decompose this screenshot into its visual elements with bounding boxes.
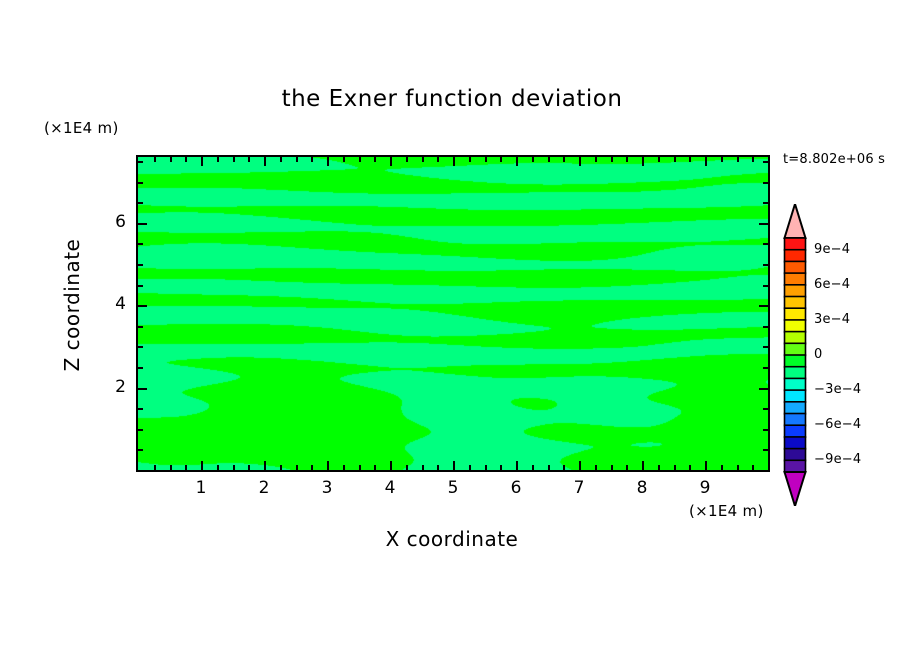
x-tick-mark bbox=[437, 465, 439, 470]
x-tick-mark bbox=[705, 157, 707, 166]
y-tick-mark bbox=[763, 449, 768, 451]
y-tick-mark bbox=[138, 429, 143, 431]
x-tick-mark bbox=[343, 157, 345, 162]
x-tick-mark bbox=[311, 465, 313, 470]
colorbar-band bbox=[785, 449, 806, 461]
x-tick-mark bbox=[563, 157, 565, 162]
x-tick-mark bbox=[548, 157, 550, 162]
colorbar-band bbox=[785, 367, 806, 379]
y-tick-mark bbox=[138, 182, 143, 184]
y-tick-mark bbox=[763, 429, 768, 431]
x-tick-mark bbox=[280, 157, 282, 162]
x-tick-mark bbox=[201, 157, 203, 166]
x-tick-mark bbox=[311, 157, 313, 162]
colorbar-tick-label: −3e−4 bbox=[814, 382, 861, 397]
x-tick-mark bbox=[611, 465, 613, 470]
x-tick-mark bbox=[154, 465, 156, 470]
colorbar-band bbox=[785, 273, 806, 285]
y-tick-mark bbox=[763, 264, 768, 266]
x-tick-label: 4 bbox=[375, 478, 405, 498]
x-tick-mark bbox=[453, 157, 455, 166]
x-tick-mark bbox=[674, 157, 676, 162]
y-tick-mark bbox=[138, 388, 147, 390]
time-annotation: t=8.802e+06 s bbox=[783, 152, 885, 167]
colorbar-band bbox=[785, 250, 806, 262]
x-tick-mark bbox=[595, 157, 597, 162]
y-tick-mark bbox=[763, 408, 768, 410]
y-tick-mark bbox=[763, 326, 768, 328]
x-tick-mark bbox=[185, 157, 187, 162]
x-tick-mark bbox=[516, 461, 518, 470]
x-tick-mark bbox=[579, 461, 581, 470]
x-tick-label: 5 bbox=[438, 478, 468, 498]
x-tick-mark bbox=[280, 465, 282, 470]
y-tick-mark bbox=[138, 326, 143, 328]
x-tick-mark bbox=[327, 461, 329, 470]
colorbar-tick-label: −9e−4 bbox=[814, 452, 861, 467]
colorbar-band bbox=[785, 332, 806, 344]
x-tick-mark bbox=[154, 157, 156, 162]
y-tick-label: 6 bbox=[100, 212, 126, 232]
colorbar-under-arrow bbox=[785, 472, 806, 506]
x-tick-mark bbox=[170, 465, 172, 470]
x-tick-mark bbox=[390, 461, 392, 470]
colorbar-over-arrow bbox=[785, 204, 806, 238]
x-tick-mark bbox=[485, 157, 487, 162]
x-tick-label: 1 bbox=[186, 478, 216, 498]
colorbar-band bbox=[785, 425, 806, 437]
x-tick-label: 6 bbox=[501, 478, 531, 498]
x-tick-mark bbox=[532, 157, 534, 162]
x-tick-mark bbox=[500, 157, 502, 162]
x-tick-mark bbox=[437, 157, 439, 162]
y-tick-mark bbox=[138, 161, 143, 163]
x-tick-mark bbox=[406, 157, 408, 162]
x-tick-mark bbox=[579, 157, 581, 166]
x-tick-mark bbox=[548, 465, 550, 470]
x-tick-mark bbox=[674, 465, 676, 470]
x-tick-mark bbox=[626, 157, 628, 162]
x-tick-mark bbox=[658, 465, 660, 470]
colorbar-band bbox=[785, 320, 806, 332]
y-tick-mark bbox=[138, 346, 143, 348]
y-tick-mark bbox=[763, 182, 768, 184]
colorbar-band bbox=[785, 378, 806, 390]
x-tick-mark bbox=[595, 465, 597, 470]
colorbar-band bbox=[785, 238, 806, 250]
y-tick-mark bbox=[138, 243, 143, 245]
x-tick-mark bbox=[374, 157, 376, 162]
x-tick-mark bbox=[296, 157, 298, 162]
x-tick-mark bbox=[343, 465, 345, 470]
x-tick-mark bbox=[217, 465, 219, 470]
x-tick-mark bbox=[516, 157, 518, 166]
y-tick-mark bbox=[759, 223, 768, 225]
x-tick-mark bbox=[390, 157, 392, 166]
colorbar-band bbox=[785, 402, 806, 414]
colorbar-band bbox=[785, 343, 806, 355]
x-axis-unit-label: (×1E4 m) bbox=[689, 502, 764, 520]
y-tick-mark bbox=[138, 285, 143, 287]
x-tick-mark bbox=[233, 157, 235, 162]
x-tick-mark bbox=[469, 465, 471, 470]
y-axis-unit-label: (×1E4 m) bbox=[44, 119, 119, 137]
colorbar-tick-label: 0 bbox=[814, 347, 822, 362]
x-tick-mark bbox=[626, 465, 628, 470]
x-tick-mark bbox=[201, 461, 203, 470]
x-tick-mark bbox=[422, 465, 424, 470]
y-tick-mark bbox=[138, 202, 143, 204]
x-tick-mark bbox=[296, 465, 298, 470]
y-tick-mark bbox=[138, 264, 143, 266]
x-tick-label: 8 bbox=[627, 478, 657, 498]
x-tick-mark bbox=[485, 465, 487, 470]
figure-canvas: the Exner function deviation (×1E4 m) t=… bbox=[0, 0, 904, 654]
x-tick-label: 3 bbox=[312, 478, 342, 498]
x-tick-mark bbox=[359, 465, 361, 470]
y-tick-mark bbox=[138, 367, 143, 369]
x-tick-mark bbox=[689, 465, 691, 470]
y-axis-title: Z coordinate bbox=[60, 205, 84, 405]
colorbar-band bbox=[785, 308, 806, 320]
x-tick-mark bbox=[264, 461, 266, 470]
colorbar-gradient bbox=[783, 204, 807, 506]
x-tick-mark bbox=[752, 157, 754, 162]
x-tick-label: 2 bbox=[249, 478, 279, 498]
y-tick-label: 2 bbox=[100, 377, 126, 397]
x-tick-mark bbox=[248, 465, 250, 470]
x-tick-mark bbox=[185, 465, 187, 470]
x-tick-mark bbox=[689, 157, 691, 162]
x-tick-mark bbox=[721, 157, 723, 162]
y-tick-mark bbox=[763, 243, 768, 245]
x-tick-mark bbox=[737, 465, 739, 470]
x-tick-mark bbox=[737, 157, 739, 162]
x-tick-mark bbox=[327, 157, 329, 166]
colorbar-band bbox=[785, 414, 806, 426]
y-tick-mark bbox=[759, 388, 768, 390]
x-tick-mark bbox=[642, 157, 644, 166]
y-tick-mark bbox=[763, 367, 768, 369]
x-tick-mark bbox=[233, 465, 235, 470]
x-tick-mark bbox=[453, 461, 455, 470]
x-tick-mark bbox=[721, 465, 723, 470]
x-tick-mark bbox=[752, 465, 754, 470]
colorbar-band bbox=[785, 437, 806, 449]
x-tick-mark bbox=[642, 461, 644, 470]
x-tick-mark bbox=[170, 157, 172, 162]
x-tick-mark bbox=[469, 157, 471, 162]
y-tick-mark bbox=[138, 449, 143, 451]
colorbar-band bbox=[785, 460, 806, 472]
x-tick-mark bbox=[359, 157, 361, 162]
colorbar-band bbox=[785, 390, 806, 402]
contour-plot-area bbox=[136, 155, 770, 472]
x-tick-mark bbox=[658, 157, 660, 162]
contour-field bbox=[138, 157, 768, 470]
y-tick-mark bbox=[763, 202, 768, 204]
y-tick-mark bbox=[759, 305, 768, 307]
x-tick-mark bbox=[248, 157, 250, 162]
x-tick-mark bbox=[705, 461, 707, 470]
colorbar bbox=[783, 204, 807, 506]
colorbar-band bbox=[785, 355, 806, 367]
y-tick-label: 4 bbox=[100, 294, 126, 314]
x-axis-title: X coordinate bbox=[0, 527, 904, 551]
colorbar-tick-label: 6e−4 bbox=[814, 277, 850, 292]
x-tick-label: 7 bbox=[564, 478, 594, 498]
x-tick-mark bbox=[532, 465, 534, 470]
y-tick-mark bbox=[763, 346, 768, 348]
x-tick-mark bbox=[563, 465, 565, 470]
colorbar-band bbox=[785, 297, 806, 309]
chart-title: the Exner function deviation bbox=[0, 86, 904, 112]
y-tick-mark bbox=[138, 408, 143, 410]
colorbar-tick-label: 3e−4 bbox=[814, 312, 850, 327]
x-tick-mark bbox=[374, 465, 376, 470]
x-tick-label: 9 bbox=[690, 478, 720, 498]
x-tick-mark bbox=[500, 465, 502, 470]
y-tick-mark bbox=[763, 161, 768, 163]
colorbar-band bbox=[785, 285, 806, 297]
y-tick-mark bbox=[138, 305, 147, 307]
colorbar-tick-label: 9e−4 bbox=[814, 242, 850, 257]
x-tick-mark bbox=[422, 157, 424, 162]
x-tick-mark bbox=[611, 157, 613, 162]
colorbar-tick-label: −6e−4 bbox=[814, 417, 861, 432]
x-tick-mark bbox=[264, 157, 266, 166]
x-tick-mark bbox=[217, 157, 219, 162]
colorbar-band bbox=[785, 261, 806, 273]
y-tick-mark bbox=[138, 223, 147, 225]
y-tick-mark bbox=[763, 285, 768, 287]
x-tick-mark bbox=[406, 465, 408, 470]
